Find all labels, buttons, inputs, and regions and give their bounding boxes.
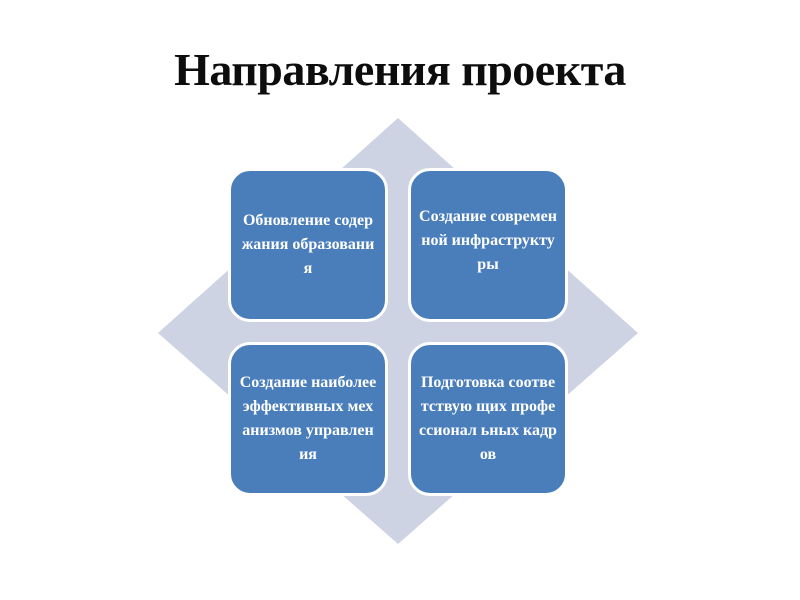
smartart-diagram: Обновление содержания образования Создан… [158,118,638,544]
quadrant-box-bottom-left[interactable]: Создание наиболее эффективных механизмов… [228,342,388,496]
quadrant-label-top-left: Обновление содержания образования [239,209,377,281]
quadrant-box-top-right[interactable]: Создание современной инфраструкту ры [408,168,568,322]
presentation-slide: Направления проекта Обновление содержани… [0,0,800,600]
quadrant-label-top-right: Создание современной инфраструкту ры [419,205,557,277]
quadrant-label-bottom-left: Создание наиболее эффективных механизмов… [239,371,377,467]
quadrant-label-bottom-right: Подготовка соответствую щих профессионал… [419,371,557,467]
quadrant-grid: Обновление содержания образования Создан… [158,118,638,544]
page-title: Направления проекта [0,42,800,98]
quadrant-box-top-left[interactable]: Обновление содержания образования [228,168,388,322]
quadrant-box-bottom-right[interactable]: Подготовка соответствую щих профессионал… [408,342,568,496]
